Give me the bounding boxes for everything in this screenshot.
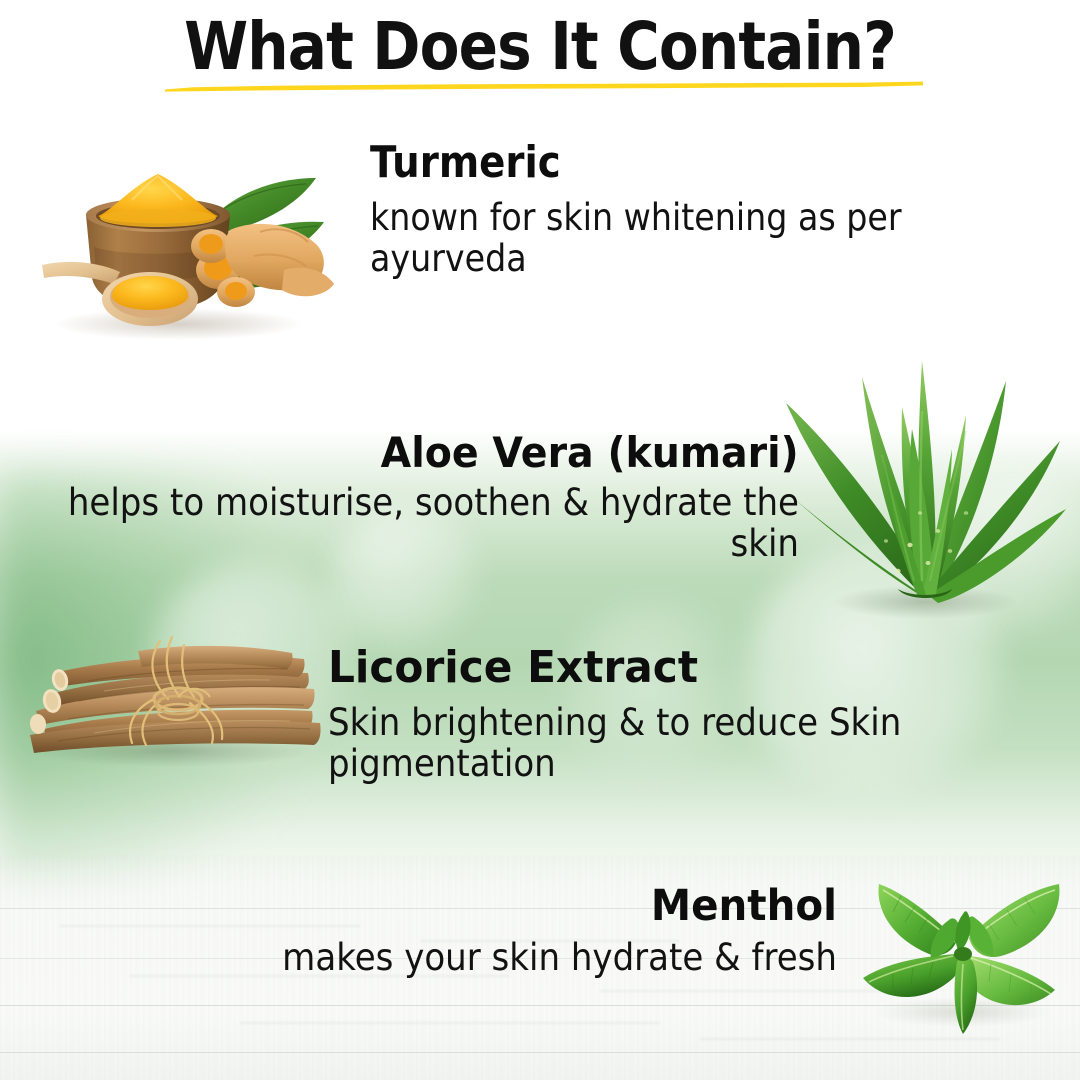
ingredient-description-menthol: makes your skin hydrate & fresh bbox=[138, 937, 837, 978]
turmeric-bowl-photo bbox=[28, 152, 348, 347]
page-title: What Does It Contain? bbox=[65, 14, 1015, 80]
ingredient-name-menthol: Menthol bbox=[651, 885, 837, 928]
page-title-wrap: What Does It Contain? bbox=[0, 14, 1080, 80]
ingredient-name-licorice: Licorice Extract bbox=[328, 646, 698, 690]
aloe-vera-plant-photo bbox=[770, 345, 1070, 625]
mint-leaves-photo bbox=[845, 862, 1080, 1037]
wood-grain bbox=[240, 1022, 660, 1024]
ingredient-description-turmeric: known for skin whitening as per ayurveda bbox=[370, 197, 1000, 280]
wood-grain bbox=[60, 925, 360, 927]
title-underline-stroke bbox=[163, 80, 925, 92]
wood-grain bbox=[700, 1038, 1000, 1040]
ingredient-description-aloe-vera: helps to moisturise, soothen & hydrate t… bbox=[63, 482, 799, 565]
ingredients-infographic: What Does It Contain? bbox=[0, 0, 1080, 1080]
licorice-root-sticks-photo bbox=[8, 625, 338, 810]
ingredient-description-licorice: Skin brightening & to reduce Skin pigmen… bbox=[328, 702, 990, 785]
ingredient-name-aloe-vera: Aloe Vera (kumari) bbox=[381, 432, 799, 474]
wood-plank-line bbox=[0, 1052, 1080, 1053]
ingredient-name-turmeric: Turmeric bbox=[370, 141, 561, 185]
